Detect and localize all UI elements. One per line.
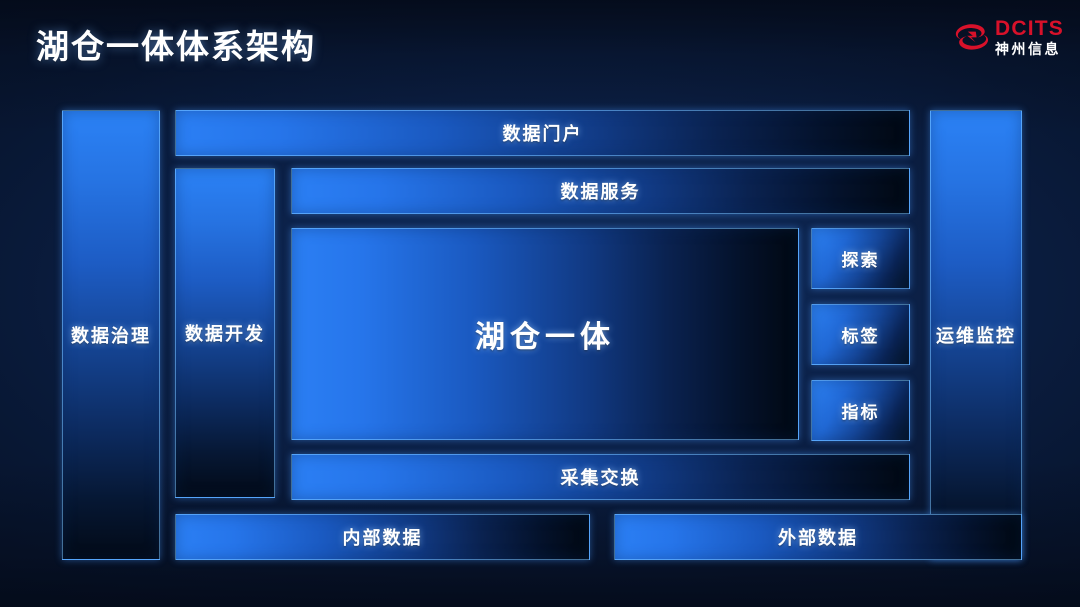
dev-column[interactable]: 数据开发 — [175, 168, 275, 498]
layer-collect-exchange[interactable]: 采集交换 — [291, 454, 910, 500]
governance-column-label: 数据治理 — [71, 322, 151, 348]
chip-tag-label: 标签 — [842, 322, 880, 347]
logo-wordmark: DCITS 神州信息 — [995, 18, 1064, 56]
layer-portal-label: 数据门户 — [503, 120, 583, 146]
dcits-swirl-logo-icon — [955, 22, 989, 52]
logo-brand-en: DCITS — [995, 18, 1064, 39]
chip-metric[interactable]: 指标 — [811, 380, 910, 441]
source-internal-label: 内部数据 — [343, 524, 423, 550]
chip-tag[interactable]: 标签 — [811, 304, 910, 365]
layer-core-lakehouse[interactable]: 湖仓一体 — [291, 228, 799, 440]
layer-portal[interactable]: 数据门户 — [175, 110, 910, 156]
source-external-label: 外部数据 — [778, 524, 858, 550]
ops-monitor-column-label: 运维监控 — [936, 322, 1016, 348]
layer-service[interactable]: 数据服务 — [291, 168, 910, 214]
chip-explore[interactable]: 探索 — [811, 228, 910, 289]
logo-brand-cn: 神州信息 — [995, 42, 1064, 56]
chip-explore-label: 探索 — [842, 246, 880, 271]
page-title: 湖仓一体体系架构 — [36, 20, 316, 68]
source-external[interactable]: 外部数据 — [614, 514, 1022, 560]
layer-collect-label: 采集交换 — [561, 464, 641, 490]
source-internal[interactable]: 内部数据 — [175, 514, 590, 560]
governance-column[interactable]: 数据治理 — [62, 110, 160, 560]
chip-metric-label: 指标 — [842, 398, 880, 423]
slide-canvas: 湖仓一体体系架构 DCITS 神州信息 数据治理 数据门户 数据开发 数据服务 … — [0, 0, 1080, 607]
ops-monitor-column[interactable]: 运维监控 — [930, 110, 1022, 560]
company-logo: DCITS 神州信息 — [955, 18, 1064, 56]
layer-core-label: 湖仓一体 — [475, 312, 615, 356]
dev-column-label: 数据开发 — [185, 320, 265, 346]
layer-service-label: 数据服务 — [561, 178, 641, 204]
